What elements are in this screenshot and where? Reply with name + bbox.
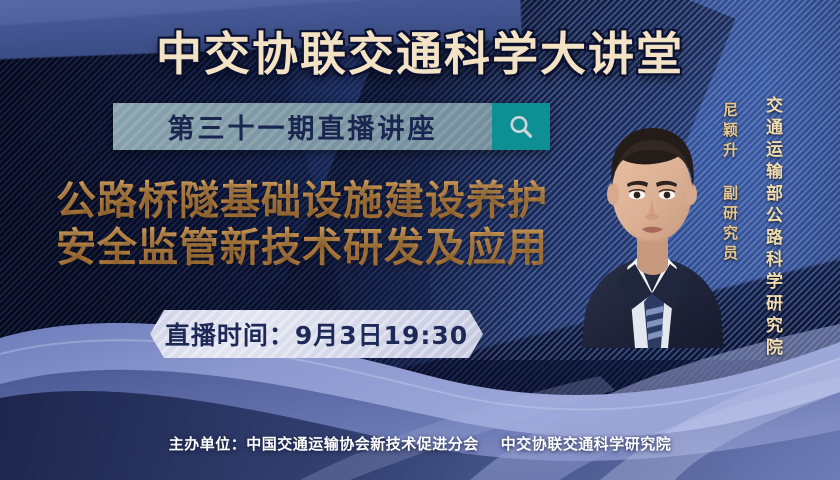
lecture-title-line-1: 公路桥隧基础设施建设养护 (22, 178, 582, 225)
speaker-portrait (575, 88, 730, 348)
broadcast-time-text: 直播时间：9月3日19:30 (165, 316, 468, 352)
lecture-title: 公路桥隧基础设施建设养护 安全监管新技术研发及应用 (22, 178, 582, 272)
episode-search-bar[interactable]: 第三十一期直播讲座 (113, 103, 550, 150)
footer-org-2: 中交协联交通科学研究院 (501, 435, 672, 453)
search-icon (506, 112, 536, 142)
episode-label: 第三十一期直播讲座 (168, 107, 438, 146)
footer-organizers: 主办单位：中国交通运输协会新技术促进分会中交协联交通科学研究院 (0, 433, 840, 454)
footer-org-1: 中国交通运输协会新技术促进分会 (246, 435, 479, 453)
page-title: 中交协联交通科学大讲堂 (0, 18, 840, 84)
speaker-name-title: 尼颖升 副研究员 (720, 102, 741, 265)
lecture-title-line-2: 安全监管新技术研发及应用 (22, 225, 582, 272)
live-stream-poster: 中交协联交通科学大讲堂 第三十一期直播讲座 公路桥隧基础设施建设养护 安全监管新… (0, 0, 840, 480)
broadcast-time-badge: 直播时间：9月3日19:30 (150, 310, 483, 358)
speaker-organization: 交通运输部公路科学研究院 (760, 96, 785, 360)
search-button[interactable] (492, 103, 550, 150)
episode-field[interactable]: 第三十一期直播讲座 (113, 103, 492, 150)
footer-prefix: 主办单位： (169, 435, 247, 453)
